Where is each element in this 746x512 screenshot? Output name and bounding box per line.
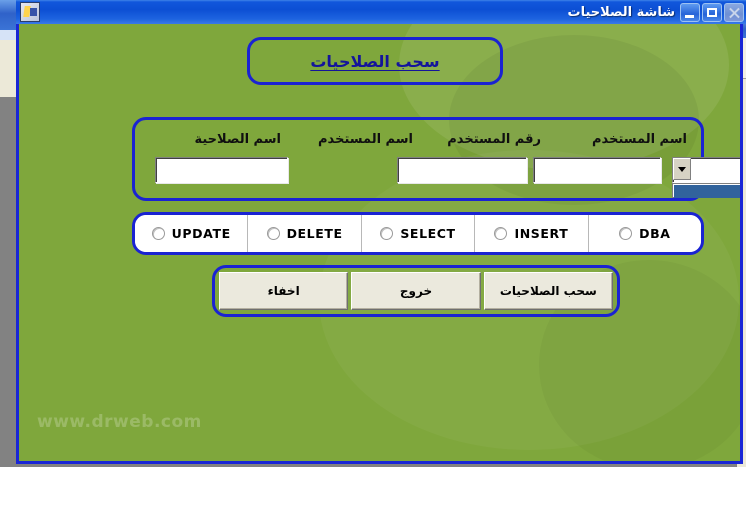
- radio-circle-icon[interactable]: [152, 227, 165, 240]
- radio-circle-icon[interactable]: [380, 227, 393, 240]
- window-controls: [680, 3, 744, 22]
- user-number-input[interactable]: [533, 157, 661, 183]
- window-titlebar[interactable]: شاشة الصلاحيات: [16, 0, 746, 24]
- close-button[interactable]: [724, 3, 744, 22]
- field-label-username-combo: اسم المستخدم: [592, 132, 687, 147]
- chevron-down-icon[interactable]: [673, 158, 691, 180]
- window-client-area: www.drweb.com سحب الصلاحيات اسم المستخدم…: [19, 0, 740, 461]
- field-label-privilege-name: اسم الصلاحية: [194, 132, 281, 147]
- privileges-radio-panel: UPDATE DELETE SELECT INSERT DBA: [132, 212, 704, 255]
- field-label-username: اسم المستخدم: [318, 132, 413, 147]
- radio-circle-icon[interactable]: [619, 227, 632, 240]
- radio-label-select: SELECT: [400, 226, 455, 241]
- withdraw-privileges-button[interactable]: سحب الصلاحيات: [484, 272, 613, 310]
- watermark-text: www.drweb.com: [37, 412, 202, 432]
- form-heading-text: سحب الصلاحيات: [310, 52, 439, 71]
- minimize-button[interactable]: [680, 3, 700, 22]
- username-input[interactable]: [397, 157, 527, 183]
- radio-label-delete: DELETE: [287, 226, 343, 241]
- radio-circle-icon[interactable]: [494, 227, 507, 240]
- radio-label-update: UPDATE: [172, 226, 231, 241]
- action-buttons-panel: اخفاء خروج سحب الصلاحيات: [212, 265, 620, 317]
- radio-option-select[interactable]: SELECT: [361, 215, 474, 252]
- privilege-name-input[interactable]: [155, 157, 288, 183]
- window-title: شاشة الصلاحيات: [568, 5, 676, 20]
- radio-option-insert[interactable]: INSERT: [474, 215, 587, 252]
- application-window: www.drweb.com سحب الصلاحيات اسم المستخدم…: [16, 0, 743, 464]
- radio-option-delete[interactable]: DELETE: [247, 215, 360, 252]
- radio-circle-icon[interactable]: [267, 227, 280, 240]
- app-icon: [20, 2, 40, 22]
- exit-button[interactable]: خروج: [351, 272, 480, 310]
- fields-panel: اسم المستخدم رقم المستخدم اسم المستخدم ا…: [132, 117, 704, 201]
- hide-button[interactable]: اخفاء: [219, 272, 348, 310]
- username-combo-selected-row[interactable]: [674, 185, 740, 198]
- radio-label-dba: DBA: [639, 226, 670, 241]
- screen: www.drweb.com سحب الصلاحيات اسم المستخدم…: [0, 0, 746, 512]
- radio-option-update[interactable]: UPDATE: [135, 215, 247, 252]
- maximize-button[interactable]: [702, 3, 722, 22]
- username-combo-dropdown-list[interactable]: [672, 183, 740, 198]
- radio-option-dba[interactable]: DBA: [588, 215, 701, 252]
- username-combo-wrapper[interactable]: [672, 157, 740, 183]
- form-heading-panel: سحب الصلاحيات: [247, 37, 503, 85]
- field-label-user-number: رقم المستخدم: [447, 132, 541, 147]
- radio-label-insert: INSERT: [514, 226, 568, 241]
